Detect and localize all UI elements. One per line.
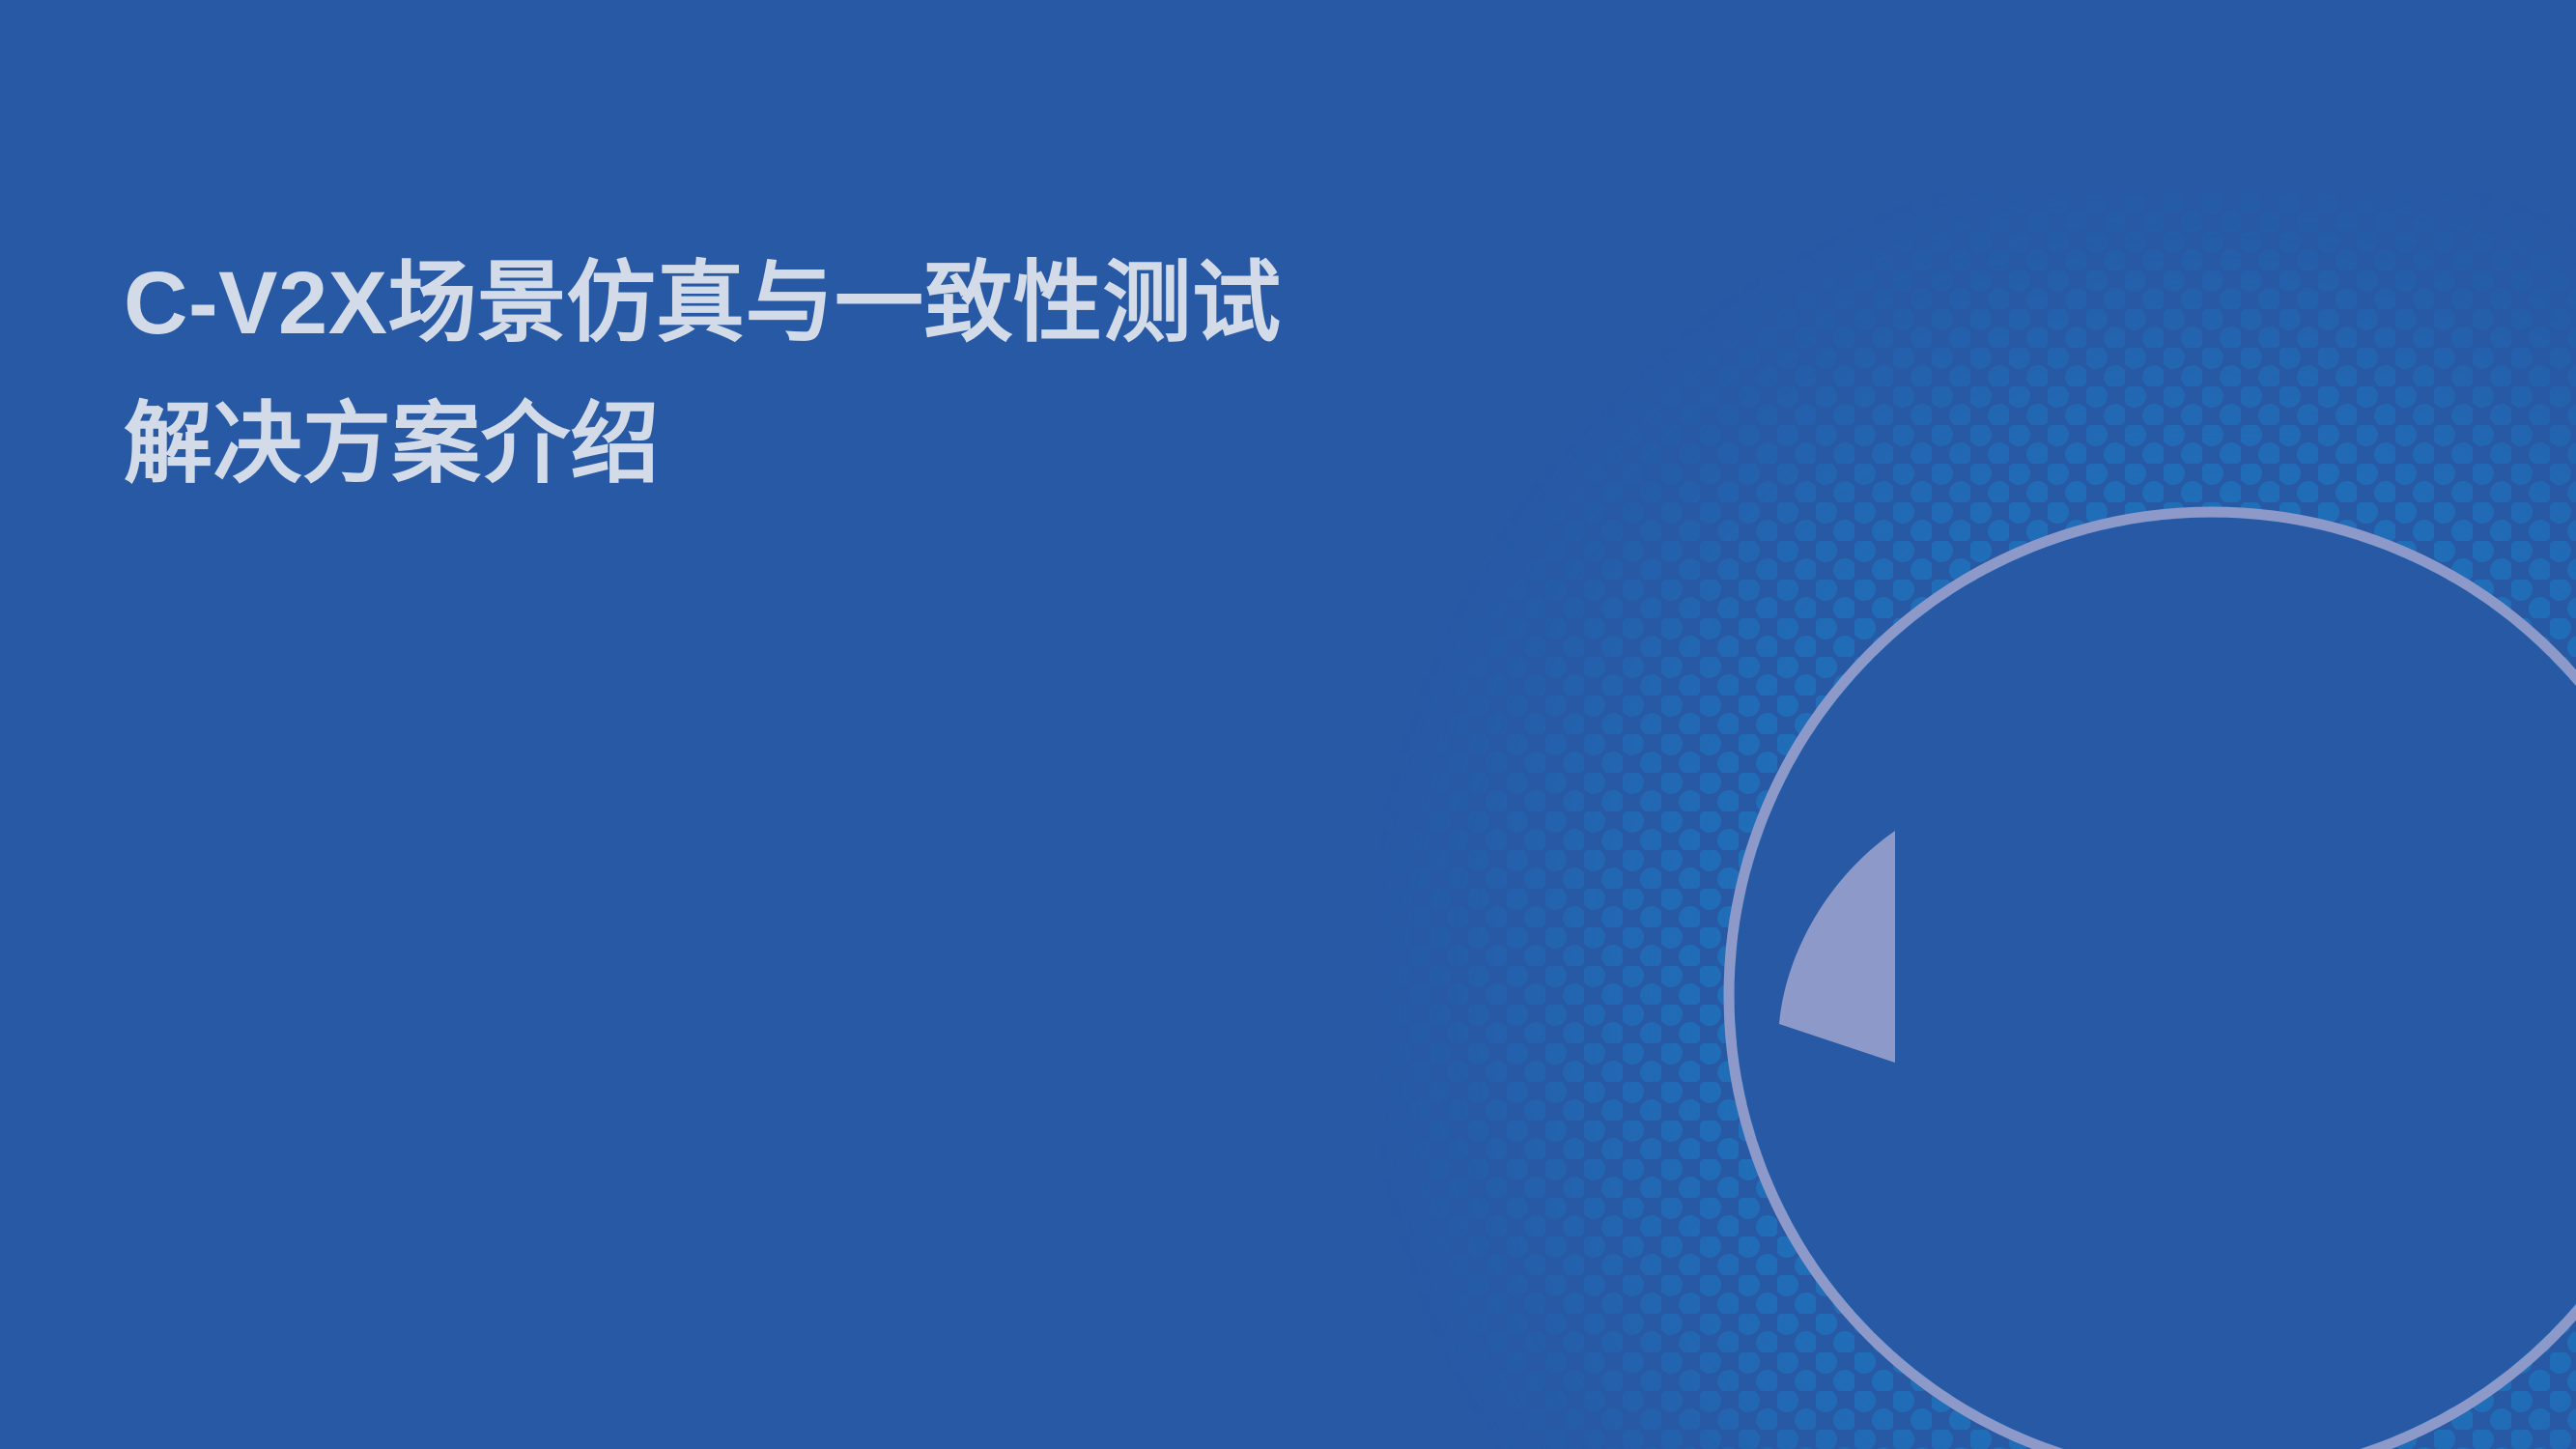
decorative-graphics	[0, 0, 2576, 1449]
title-line-primary: C-V2X场景仿真与一致性测试	[124, 259, 1572, 348]
circle-outline-arc	[1729, 512, 2576, 1449]
page-title: C-V2X场景仿真与一致性测试 解决方案介绍	[124, 259, 1572, 489]
title-line-secondary: 解决方案介绍	[124, 400, 1572, 489]
inner-circle-mask	[1735, 518, 2576, 1449]
arrowhead-marker	[1779, 831, 1895, 1063]
title-slide: C-V2X场景仿真与一致性测试 解决方案介绍	[0, 0, 2576, 1449]
slide-background	[0, 0, 2576, 1449]
